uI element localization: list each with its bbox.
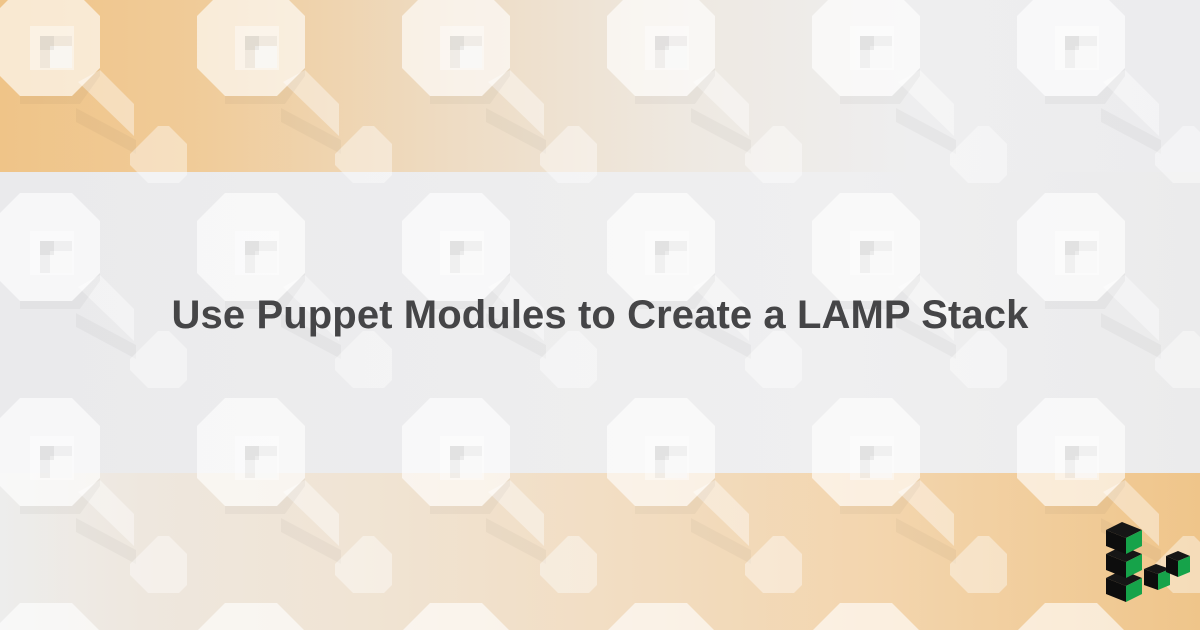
logo-cube-top-left: [1106, 522, 1142, 554]
puppet-logo-icon: [1104, 522, 1190, 602]
page-title: Use Puppet Modules to Create a LAMP Stac…: [112, 290, 1089, 340]
title-container: Use Puppet Modules to Create a LAMP Stac…: [0, 0, 1200, 630]
puppet-logo: [1104, 522, 1190, 602]
social-share-card: Use Puppet Modules to Create a LAMP Stac…: [0, 0, 1200, 630]
logo-cube-small-right: [1166, 551, 1190, 577]
